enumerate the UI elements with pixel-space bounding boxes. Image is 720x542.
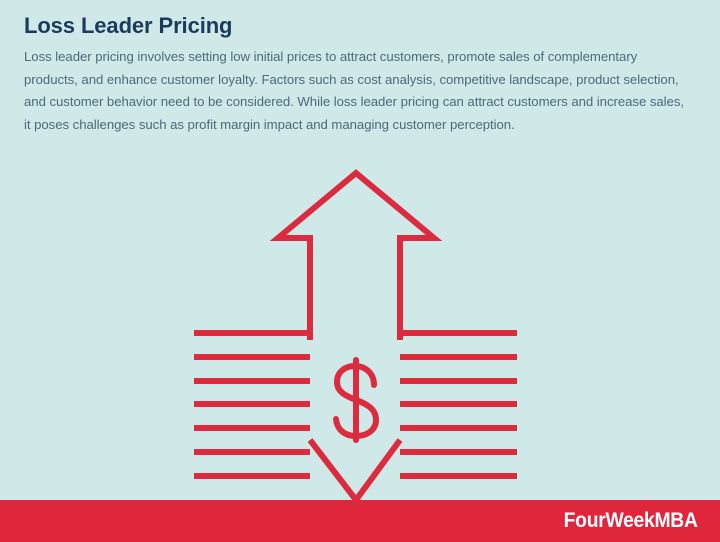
price-lines-right	[400, 333, 517, 476]
down-arrow-icon	[310, 440, 400, 500]
brand-logo: FourWeekMBA	[564, 509, 698, 533]
infographic-canvas: Loss Leader Pricing Loss leader pricing …	[0, 0, 720, 542]
price-lines-left	[194, 333, 310, 476]
description-text: Loss leader pricing involves setting low…	[24, 46, 692, 136]
text-block: Loss Leader Pricing Loss leader pricing …	[24, 14, 696, 136]
dollar-sign-icon	[336, 360, 376, 440]
page-title: Loss Leader Pricing	[24, 14, 696, 38]
footer-bar: FourWeekMBA	[0, 500, 720, 542]
up-arrow-icon	[278, 173, 434, 340]
